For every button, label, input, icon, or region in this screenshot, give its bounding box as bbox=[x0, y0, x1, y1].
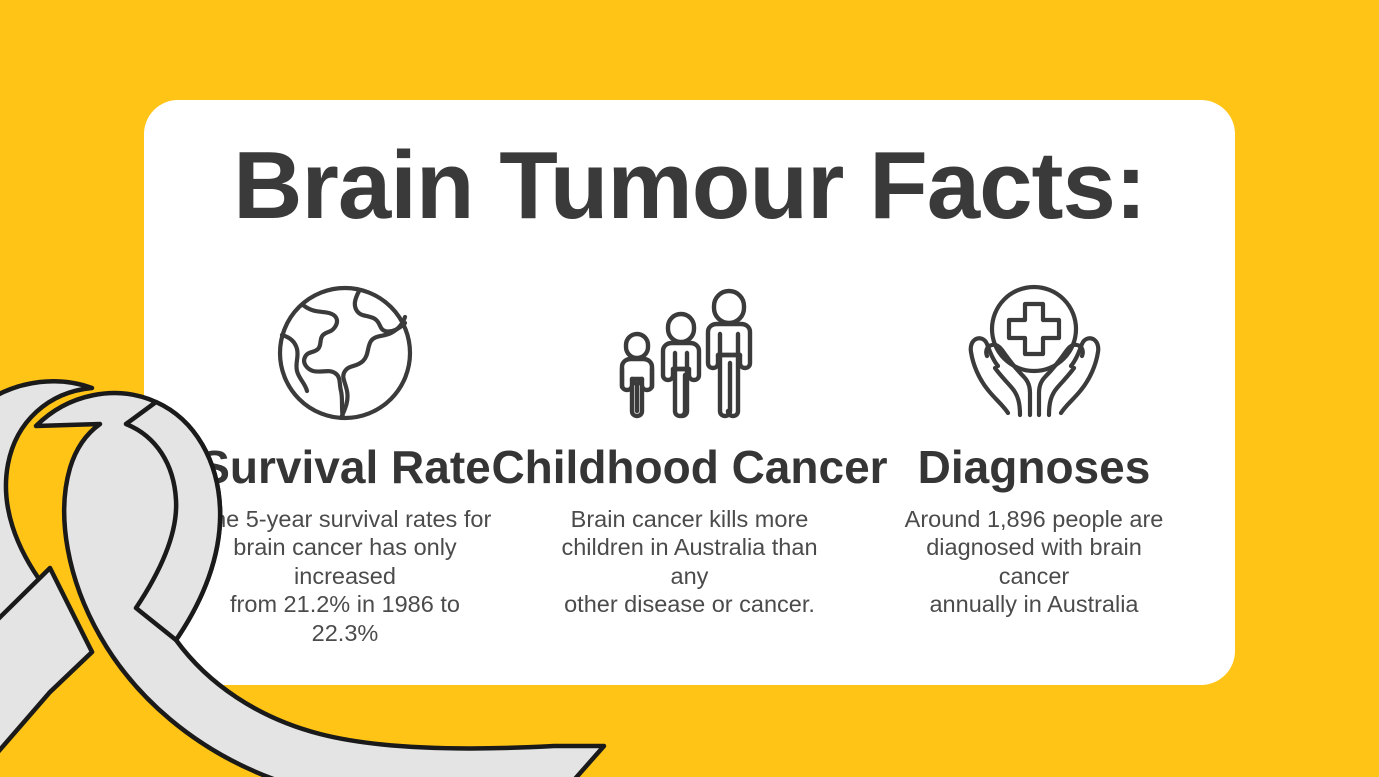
content-card: Brain Tumour Facts: Survival Rate The 5-… bbox=[144, 100, 1235, 685]
fact-body-line: The 5-year survival rates for bbox=[195, 505, 495, 534]
fact-body-line: children in Australia than any bbox=[540, 533, 840, 590]
fact-body-line: Brain cancer kills more bbox=[540, 505, 840, 534]
ribbon-band-left bbox=[0, 381, 92, 692]
fact-column-childhood-cancer: Childhood Cancer Brain cancer kills more… bbox=[525, 278, 855, 619]
fact-body: Brain cancer kills more children in Aust… bbox=[540, 505, 840, 619]
fact-body-line: diagnosed with brain cancer bbox=[889, 533, 1179, 590]
fact-heading: Diagnoses bbox=[918, 442, 1151, 493]
fact-column-diagnoses: Diagnoses Around 1,896 people are diagno… bbox=[869, 278, 1199, 619]
hands-holding-medical-cross-icon bbox=[962, 278, 1107, 428]
facts-columns: Survival Rate The 5-year survival rates … bbox=[144, 278, 1235, 618]
fact-column-survival-rate: Survival Rate The 5-year survival rates … bbox=[180, 278, 510, 647]
fact-body-line: brain cancer has only increased bbox=[195, 533, 495, 590]
infographic-canvas: Brain Tumour Facts: Survival Rate The 5-… bbox=[0, 0, 1379, 777]
fact-body-line: Around 1,896 people are bbox=[889, 505, 1179, 534]
fact-body-line: annually in Australia bbox=[889, 590, 1179, 619]
globe-icon bbox=[275, 278, 415, 428]
page-title: Brain Tumour Facts: bbox=[144, 136, 1235, 237]
ribbon-tail-left bbox=[0, 568, 92, 777]
fact-body-line: other disease or cancer. bbox=[540, 590, 840, 619]
fact-body-line: from 21.2% in 1986 to 22.3% bbox=[195, 590, 495, 647]
fact-heading: Survival Rate bbox=[199, 442, 490, 493]
family-group-icon bbox=[610, 278, 770, 428]
fact-body: Around 1,896 people are diagnosed with b… bbox=[889, 505, 1179, 619]
fact-heading: Childhood Cancer bbox=[491, 442, 887, 493]
fact-body: The 5-year survival rates for brain canc… bbox=[195, 505, 495, 648]
